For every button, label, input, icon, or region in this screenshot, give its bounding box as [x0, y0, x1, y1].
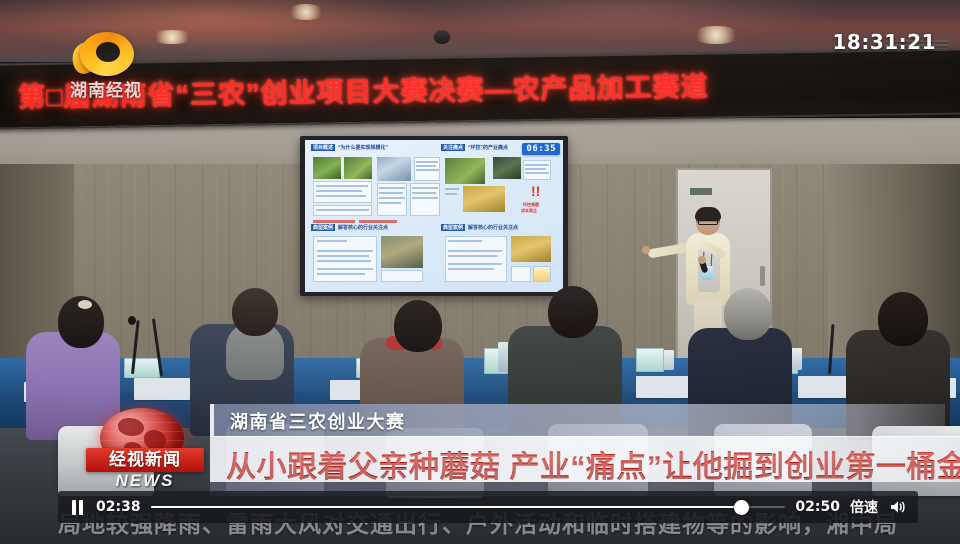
slide-text-line: [445, 188, 459, 190]
slide-text-line: [448, 255, 498, 257]
slide-text-line: [416, 165, 436, 167]
slide-text-line: [412, 187, 438, 189]
slide-image: [313, 157, 341, 179]
slide-text-line: [448, 250, 502, 252]
slide-text-line: [317, 250, 373, 252]
person-head: [724, 288, 772, 340]
slide-heading-left: 项目概述“为什么要实现规模化”: [311, 144, 431, 153]
table-paper: [134, 378, 190, 400]
person-head: [878, 292, 928, 346]
slide-image: [463, 186, 505, 212]
ceiling-light: [690, 26, 742, 44]
lower-third-subtitle-bar: 湖南省三农创业大赛: [210, 404, 945, 436]
channel-name: 湖南经视: [50, 76, 162, 101]
lower-third-headline-bar: 从小跟着父亲种蘑菇 产业“痛点”让他掘到创业第一桶金: [210, 436, 960, 482]
presentation-slide: 项目概述“为什么要实现规模化” 关注痛点“环控”的产业痛点: [305, 140, 563, 292]
slide-text-line: [379, 202, 401, 204]
slide-highlight-line: [359, 220, 397, 223]
globe-landmass: [118, 418, 144, 436]
slide-text-line: [316, 209, 369, 211]
slide-tag: 典型案例: [441, 224, 465, 231]
table-nameplate: [124, 358, 160, 378]
news-badge-cn-text: 经视新闻: [86, 448, 204, 472]
pause-button[interactable]: [68, 497, 86, 517]
slide-text-block: [523, 160, 551, 180]
presenter-glasses: [698, 220, 718, 225]
slide-text-line: [412, 197, 438, 199]
slide-subheading: “为什么要实现规模化”: [338, 145, 388, 151]
slide-text-line: [317, 273, 365, 275]
slide-text-line: [448, 240, 482, 242]
person-head: [394, 300, 442, 352]
door-handle: [760, 266, 765, 286]
slide-text-line: [317, 268, 373, 270]
slide-highlight-line: [313, 220, 355, 223]
ceiling-light: [286, 4, 326, 20]
slide-image: [445, 158, 485, 184]
slide-subheading: 解答核心的行业关注点: [468, 225, 518, 231]
slide-image: [344, 157, 372, 179]
slide-text-block: [381, 270, 423, 282]
news-program-badge: 经视新闻 NEWS: [70, 404, 215, 496]
slide-text-line: [316, 185, 368, 187]
slide-countdown-timer: 06:35: [522, 143, 560, 155]
slide-text-line: [416, 161, 438, 163]
slide-image: [381, 236, 423, 268]
table-paper: [636, 376, 690, 398]
slide-text-block: [313, 236, 377, 282]
microphone-head: [128, 316, 136, 325]
slide-text-line: [317, 255, 369, 257]
slide-text-line: [316, 195, 366, 197]
drink-can: [664, 350, 674, 370]
slide-tag: 项目概述: [311, 144, 335, 151]
projection-screen: 项目概述“为什么要实现规模化” 关注痛点“环控”的产业痛点: [300, 136, 568, 296]
total-time-label: 02:50: [795, 499, 840, 515]
volume-button[interactable]: [888, 498, 908, 516]
globe-landmass: [144, 430, 166, 450]
slide-text-block: [511, 266, 531, 282]
hair-clip: [78, 300, 92, 309]
news-badge-en-text: NEWS: [86, 471, 204, 491]
slide-text-line: [412, 192, 436, 194]
slide-text-block: [313, 205, 372, 216]
pause-icon: [72, 500, 83, 515]
current-time-label: 02:38: [96, 499, 141, 515]
slide-text-line: [448, 263, 502, 265]
door-plate: [690, 188, 712, 195]
lower-third-subtitle: 湖南省三农创业大赛: [230, 408, 406, 434]
volume-on-icon: [889, 499, 907, 515]
channel-logo: 湖南经视: [50, 28, 162, 98]
slide-text-line: [525, 168, 546, 170]
player-control-bar[interactable]: 02:38 02:50 倍速: [58, 491, 918, 523]
slide-text-line: [317, 240, 347, 242]
slide-alert-text: 成本高企: [521, 208, 537, 214]
slide-image: [377, 157, 411, 181]
slide-text-line: [448, 268, 494, 270]
presenter-hand: [698, 256, 706, 264]
progress-bar[interactable]: [151, 498, 786, 516]
slide-text-line: [317, 260, 371, 262]
slide-text-block: [533, 266, 551, 282]
slide-tag: 典型案例: [311, 224, 335, 231]
slide-text-line: [445, 193, 457, 195]
mango-logo-icon: [72, 28, 134, 78]
slide-image: [511, 236, 551, 262]
slide-alert-icon: !!: [531, 184, 540, 198]
slide-image: [493, 157, 521, 179]
slide-text-line: [525, 172, 549, 174]
table-nameplate: [636, 348, 664, 372]
presenter-hair: [695, 207, 721, 221]
slide-text-line: [316, 190, 362, 192]
progress-fill: [151, 506, 741, 508]
slide-text-line: [379, 197, 405, 199]
clock-display: 18:31:21: [833, 30, 937, 54]
slide-text-line: [416, 169, 439, 171]
lower-third-banner: 湖南省三农创业大赛 从小跟着父亲种蘑菇 产业“痛点”让他掘到创业第一桶金 经视新…: [70, 404, 960, 496]
slide-text-line: [525, 164, 549, 166]
person-head: [548, 286, 598, 338]
ceiling-camera-icon: [434, 30, 450, 44]
slide-subheading: 解答核心的行业关注点: [338, 225, 388, 231]
playback-speed-button[interactable]: 倍速: [850, 497, 878, 517]
slide-text-line: [379, 187, 405, 189]
slide-heading-case-right: 典型案例解答核心的行业关注点: [441, 224, 561, 233]
video-player[interactable]: 第□届湖南省“三农”创业项目大赛决赛—农产品加工赛道 项目概述“为什么要实现规模…: [0, 0, 960, 544]
slide-heading-case-left: 典型案例解答核心的行业关注点: [311, 224, 431, 233]
slide-text-block: [445, 236, 507, 282]
progress-handle[interactable]: [734, 500, 749, 515]
presenter-hand: [642, 246, 650, 254]
slide-text-line: [379, 192, 403, 194]
lower-third-headline: 从小跟着父亲种蘑菇 产业“痛点”让他掘到创业第一桶金: [226, 442, 960, 486]
person-head: [232, 288, 278, 336]
mango-hole-shape: [96, 42, 120, 62]
slide-subheading: “环控”的产业痛点: [468, 145, 508, 151]
slide-tag: 关注痛点: [441, 144, 465, 151]
